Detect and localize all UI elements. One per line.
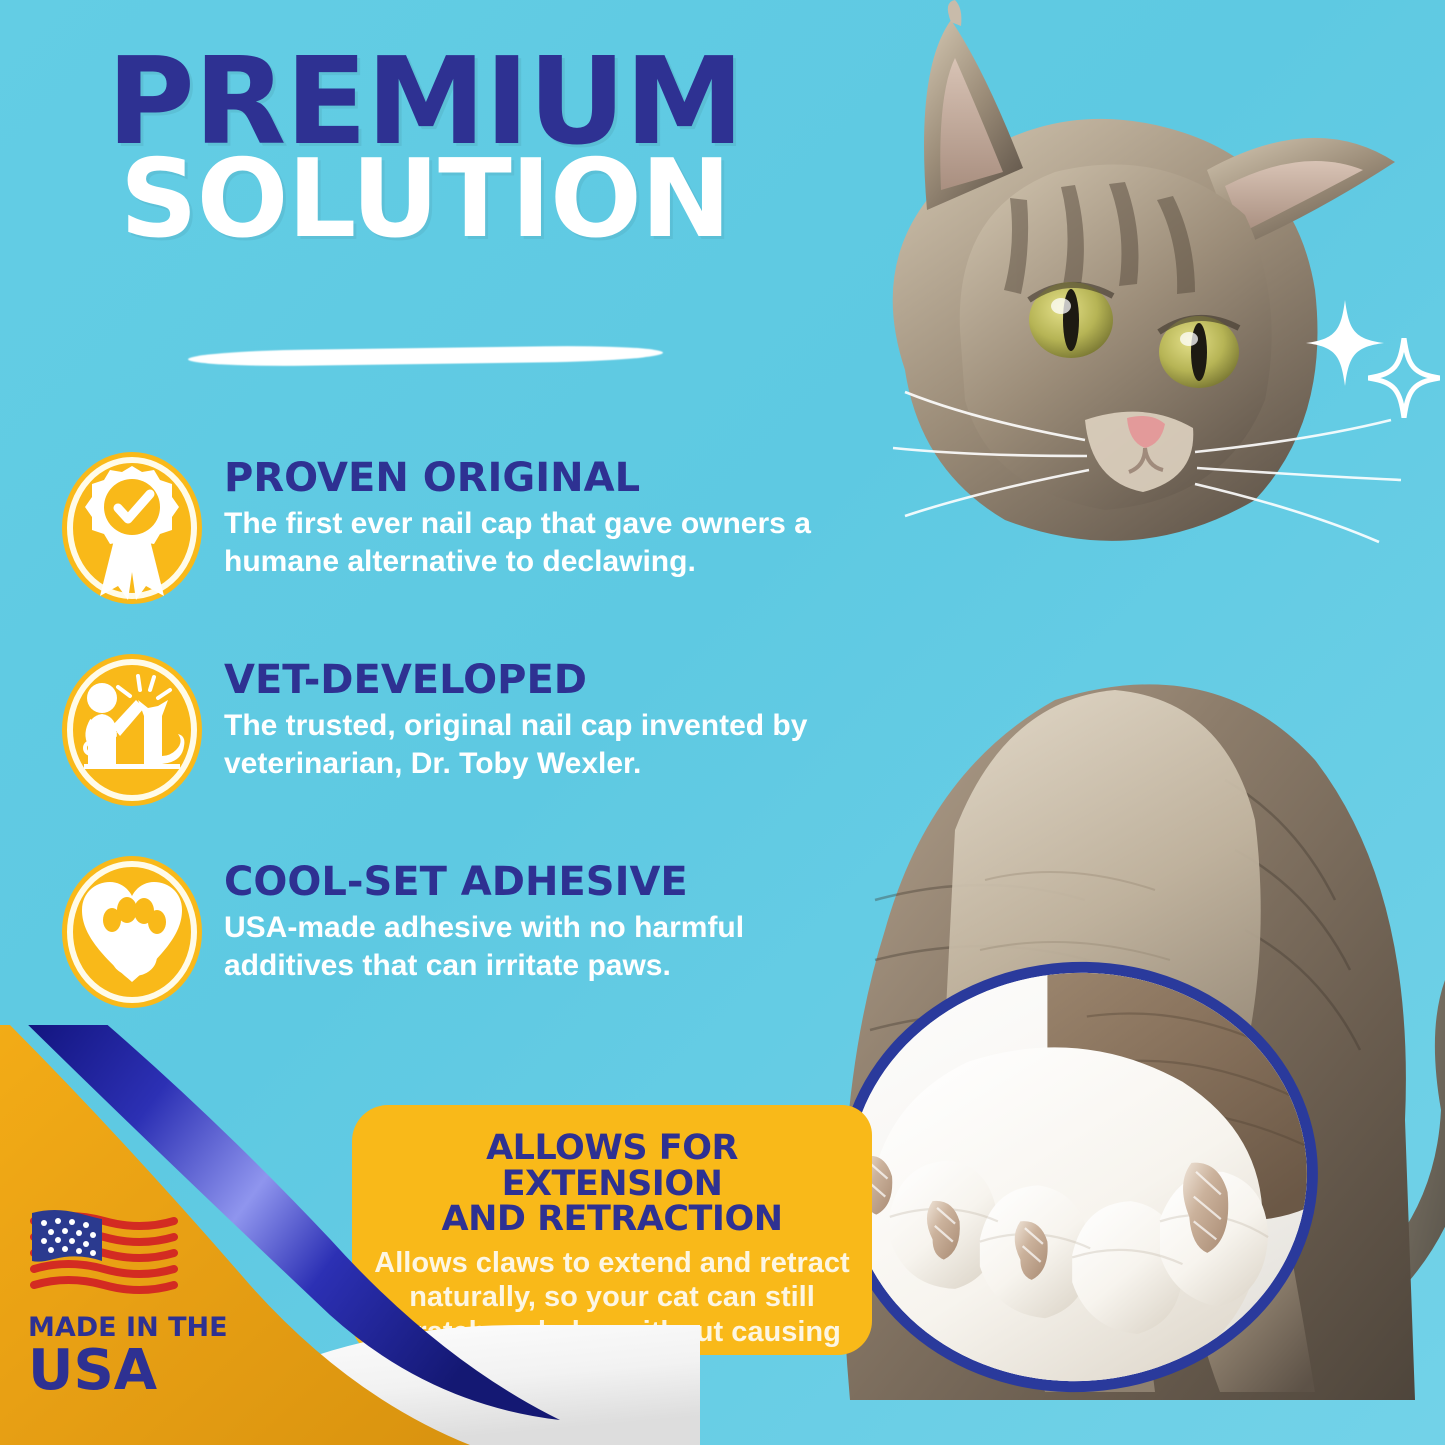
sparkle-outline-icon (1368, 338, 1440, 418)
usa-label: USA (28, 1343, 258, 1399)
usa-flag-icon (28, 1207, 180, 1302)
feature-list: PROVEN ORIGINAL The first ever nail cap … (58, 448, 868, 1054)
made-in-the-label: MADE IN THE (28, 1314, 258, 1341)
made-in-usa-badge: MADE IN THE USA (28, 1207, 258, 1399)
feature-description: USA-made adhesive with no harmful additi… (224, 909, 868, 986)
feature-title: COOL-SET ADHESIVE (224, 862, 868, 902)
award-ribbon-check-icon (58, 448, 206, 608)
headline-block: PREMIUM SOLUTION (0, 48, 850, 250)
headline-line-solution: SOLUTION (0, 150, 850, 249)
feature-title: PROVEN ORIGINAL (224, 458, 868, 498)
vet-high-five-cat-icon (58, 650, 206, 810)
feature-item-vet-developed: VET-DEVELOPED The trusted, original nail… (58, 650, 868, 810)
swoosh-divider (188, 345, 663, 368)
feature-description: The first ever nail cap that gave owners… (224, 505, 868, 582)
feature-item-cool-set-adhesive: COOL-SET ADHESIVE USA-made adhesive with… (58, 852, 868, 1012)
feature-title: VET-DEVELOPED (224, 660, 868, 700)
feature-item-proven-original: PROVEN ORIGINAL The first ever nail cap … (58, 448, 868, 608)
heart-paw-icon (58, 852, 206, 1012)
infographic-canvas: PREMIUM SOLUTION PROVEN OR (0, 0, 1445, 1445)
feature-description: The trusted, original nail cap invented … (224, 707, 868, 784)
cat-paw-with-nail-caps-photo (824, 946, 1333, 1408)
